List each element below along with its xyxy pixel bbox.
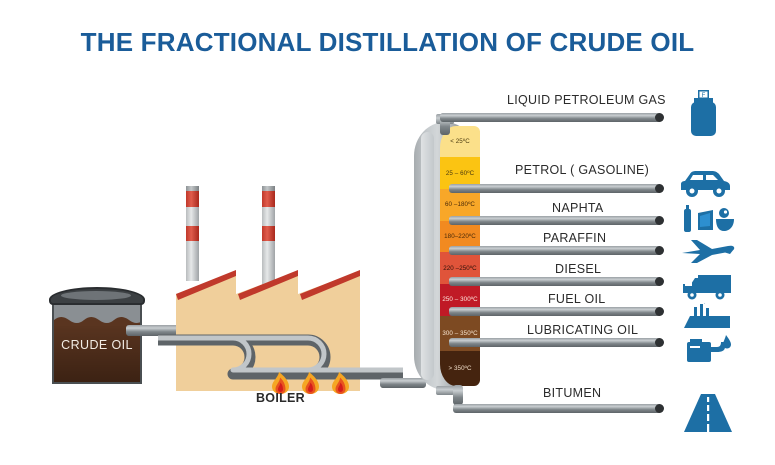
column-bottom-nozzle [436, 386, 454, 395]
product-label-petrol-gasoline: PETROL ( GASOLINE) [515, 163, 649, 177]
fraction-temperature-label: 250 – 300ºC [442, 296, 477, 303]
pipe-cap [655, 338, 664, 347]
pipe-bitumen-downcomer [453, 385, 463, 405]
page-title: THE FRACTIONAL DISTILLATION OF CRUDE OIL [0, 27, 775, 58]
outlet-pipe-petrol-gasoline [449, 184, 662, 193]
pipe-cap [655, 184, 664, 193]
factory-icon [684, 303, 730, 328]
fractionating-column: < 25ºC25 – 60ºC60 –180ºC180–220ºC220 –25… [414, 122, 476, 390]
fraction-temperature-label: 180–220ºC [444, 233, 476, 240]
fraction-temperature-label: 300 – 350ºC [442, 330, 477, 337]
pipe-cap [655, 404, 664, 413]
factory-roof-lines [168, 264, 393, 309]
product-label-liquid-petroleum-gas: LIQUID PETROLEUM GAS [507, 93, 666, 107]
product-label-bitumen: BITUMEN [543, 386, 601, 400]
boiler-label: BOILER [168, 391, 393, 405]
fraction-temperature-label: 220 –250ºC [443, 265, 477, 272]
tank-lid [49, 287, 145, 305]
outlet-pipe-diesel [449, 277, 662, 286]
fraction-temperature-label: 25 – 60ºC [446, 170, 474, 177]
product-label-lubricating-oil: LUBRICATING OIL [527, 323, 638, 337]
truck-icon [681, 272, 733, 300]
product-label-diesel: DIESEL [555, 262, 601, 276]
gas-cylinder-icon: F [686, 90, 720, 136]
outlet-pipe-lubricating-oil [449, 338, 662, 347]
oil-can-icon [684, 334, 732, 364]
pipe-cap [655, 246, 664, 255]
car-icon [678, 168, 732, 198]
airplane-icon [680, 238, 736, 264]
product-label-paraffin: PARAFFIN [543, 231, 606, 245]
fraction-temperature-label: < 25ºC [450, 138, 470, 145]
column-highlight [421, 132, 434, 380]
product-label-naphta: NAPHTA [552, 201, 604, 215]
outlet-pipe-naphta [449, 216, 662, 225]
outlet-pipe-bitumen [453, 404, 662, 413]
pipe-cap [655, 113, 664, 122]
column-fraction-stack: < 25ºC25 – 60ºC60 –180ºC180–220ºC220 –25… [440, 126, 480, 386]
pipe-cap [655, 277, 664, 286]
pipe-cap [655, 216, 664, 225]
outlet-pipe-fuel-oil [449, 307, 662, 316]
road-icon [684, 394, 732, 432]
outlet-pipe-paraffin [449, 246, 662, 255]
tank-label: CRUDE OIL [49, 338, 145, 352]
fraction-band: > 350ºC [440, 351, 480, 386]
product-label-fuel-oil: FUEL OIL [548, 292, 606, 306]
outlet-pipe-lpg [440, 113, 662, 122]
pipe-cap [655, 307, 664, 316]
fraction-temperature-label: > 350ºC [448, 365, 471, 372]
boiler-assembly: BOILER [168, 186, 393, 416]
fraction-temperature-label: 60 –180ºC [445, 201, 475, 208]
tank-lid-highlight [61, 291, 131, 300]
solvent-bottle-icon [682, 205, 734, 233]
infographic-canvas: THE FRACTIONAL DISTILLATION OF CRUDE OIL… [0, 0, 775, 465]
